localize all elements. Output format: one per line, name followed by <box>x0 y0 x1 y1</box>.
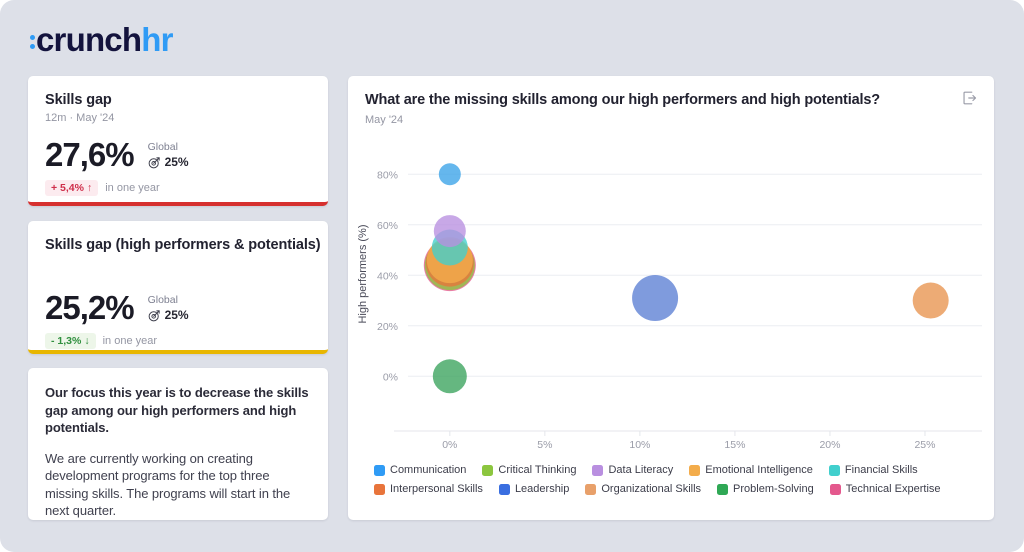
legend-item-interpersonal-skills[interactable]: Interpersonal Skills <box>374 483 483 495</box>
legend-swatch-icon <box>499 484 510 495</box>
benchmark-value: 25% <box>165 155 189 169</box>
card-skills-gap-kpi: 27,6% Global 25% <box>28 124 328 172</box>
legend-swatch-icon <box>829 465 840 476</box>
y-axis-tick-label: 60% <box>377 220 398 232</box>
chart-header: What are the missing skills among our hi… <box>348 76 994 126</box>
x-axis-title: High potentials (%) <box>649 460 742 461</box>
legend-swatch-icon <box>592 465 603 476</box>
legend-swatch-icon <box>717 484 728 495</box>
delta-note: in one year <box>103 335 157 347</box>
x-axis-tick-label: 5% <box>537 439 552 451</box>
logo-dots-icon <box>30 32 35 49</box>
legend-item-organizational-skills[interactable]: Organizational Skills <box>585 483 701 495</box>
chart-plot-area: 0%20%40%60%80%0%5%10%15%20%25%High poten… <box>348 131 994 461</box>
bubble-organizational-skills[interactable] <box>913 283 949 319</box>
chart-panel: What are the missing skills among our hi… <box>348 76 994 520</box>
chart-subtitle: May '24 <box>365 114 976 126</box>
arrow-up-icon: ↑ <box>87 182 92 194</box>
chart-legend: CommunicationCritical ThinkingData Liter… <box>374 464 982 502</box>
target-icon <box>148 309 161 322</box>
bubble-communication[interactable] <box>439 163 461 185</box>
x-axis-tick-label: 0% <box>442 439 457 451</box>
legend-swatch-icon <box>374 484 385 495</box>
logo-text-dark: crunch <box>36 21 141 58</box>
x-axis-tick-label: 25% <box>914 439 935 451</box>
legend-item-leadership[interactable]: Leadership <box>499 483 569 495</box>
y-axis-tick-label: 20% <box>377 321 398 333</box>
legend-item-critical-thinking[interactable]: Critical Thinking <box>482 464 576 476</box>
legend-label: Communication <box>390 464 466 476</box>
target-icon <box>148 156 161 169</box>
legend-swatch-icon <box>830 484 841 495</box>
card-skills-gap-hp-benchmark: Global 25% <box>148 294 189 325</box>
legend-swatch-icon <box>482 465 493 476</box>
y-axis-title: High performers (%) <box>357 224 369 323</box>
legend-item-communication[interactable]: Communication <box>374 464 466 476</box>
card-skills-gap-subtitle: 12m · May '24 <box>28 108 328 124</box>
delta-note: in one year <box>105 182 159 194</box>
benchmark-value: 25% <box>165 308 189 322</box>
card-skills-gap-delta: + 5,4% ↑ in one year <box>28 172 328 196</box>
legend-label: Organizational Skills <box>601 483 701 495</box>
legend-label: Critical Thinking <box>498 464 576 476</box>
y-axis-tick-label: 40% <box>377 270 398 282</box>
legend-item-technical-expertise[interactable]: Technical Expertise <box>830 483 941 495</box>
bubble-data-literacy[interactable] <box>434 215 466 247</box>
legend-row-2: Interpersonal SkillsLeadershipOrganizati… <box>374 483 982 495</box>
card-skills-gap-high-performers[interactable]: Skills gap (high performers & potentials… <box>28 221 328 354</box>
export-glyph <box>962 90 978 106</box>
card-skills-gap-benchmark: Global 25% <box>148 141 189 172</box>
export-icon[interactable] <box>959 87 981 109</box>
arrow-down-icon: ↓ <box>84 335 89 347</box>
note-paragraph-bold: Our focus this year is to decrease the s… <box>45 384 310 437</box>
card-skills-gap-value: 27,6% <box>45 138 134 172</box>
y-axis-tick-label: 80% <box>377 169 398 181</box>
benchmark-value-row: 25% <box>148 308 189 322</box>
legend-label: Interpersonal Skills <box>390 483 483 495</box>
legend-swatch-icon <box>374 465 385 476</box>
legend-item-problem-solving[interactable]: Problem-Solving <box>717 483 814 495</box>
legend-item-emotional-intelligence[interactable]: Emotional Intelligence <box>689 464 813 476</box>
bubble-problem-solving[interactable] <box>433 359 467 393</box>
y-axis-tick-label: 0% <box>383 371 398 383</box>
card-skills-gap-hp-value: 25,2% <box>45 291 134 325</box>
legend-item-financial-skills[interactable]: Financial Skills <box>829 464 918 476</box>
chart-title: What are the missing skills among our hi… <box>365 92 976 108</box>
delta-badge-down: - 1,3% ↓ <box>45 333 96 349</box>
legend-item-data-literacy[interactable]: Data Literacy <box>592 464 673 476</box>
legend-label: Leadership <box>515 483 569 495</box>
crunchr-logo: crunchhr <box>30 20 173 60</box>
card-skills-gap-hp-kpi: 25,2% Global 25% <box>28 253 328 325</box>
legend-label: Financial Skills <box>845 464 918 476</box>
logo-wordmark: crunchhr <box>36 23 173 57</box>
app-root: crunchhr Skills gap 12m · May '24 27,6% … <box>0 0 1024 552</box>
legend-swatch-icon <box>689 465 700 476</box>
x-axis-tick-label: 10% <box>629 439 650 451</box>
card-skills-gap[interactable]: Skills gap 12m · May '24 27,6% Global 25… <box>28 76 328 206</box>
legend-row-1: CommunicationCritical ThinkingData Liter… <box>374 464 982 476</box>
card-skills-gap-hp-delta: - 1,3% ↓ in one year <box>28 325 328 349</box>
note-body: Our focus this year is to decrease the s… <box>28 368 328 520</box>
delta-badge-up: + 5,4% ↑ <box>45 180 98 196</box>
legend-label: Technical Expertise <box>846 483 941 495</box>
logo-text-blue: hr <box>141 21 172 58</box>
x-axis-tick-label: 20% <box>819 439 840 451</box>
legend-swatch-icon <box>585 484 596 495</box>
delta-value: - 1,3% <box>51 335 81 347</box>
benchmark-label: Global <box>148 141 189 153</box>
legend-label: Data Literacy <box>608 464 673 476</box>
note-paragraph-plain: We are currently working on creating dev… <box>45 450 310 520</box>
bubble-chart-svg: 0%20%40%60%80%0%5%10%15%20%25%High poten… <box>348 131 994 461</box>
benchmark-label: Global <box>148 294 189 306</box>
x-axis-tick-label: 15% <box>724 439 745 451</box>
card-skills-gap-title: Skills gap <box>28 76 328 108</box>
card-skills-gap-hp-title: Skills gap (high performers & potentials… <box>28 221 328 253</box>
bubble-leadership[interactable] <box>632 275 678 321</box>
card-note: Our focus this year is to decrease the s… <box>28 368 328 520</box>
legend-label: Problem-Solving <box>733 483 814 495</box>
legend-label: Emotional Intelligence <box>705 464 813 476</box>
benchmark-value-row: 25% <box>148 155 189 169</box>
delta-value: + 5,4% <box>51 182 84 194</box>
